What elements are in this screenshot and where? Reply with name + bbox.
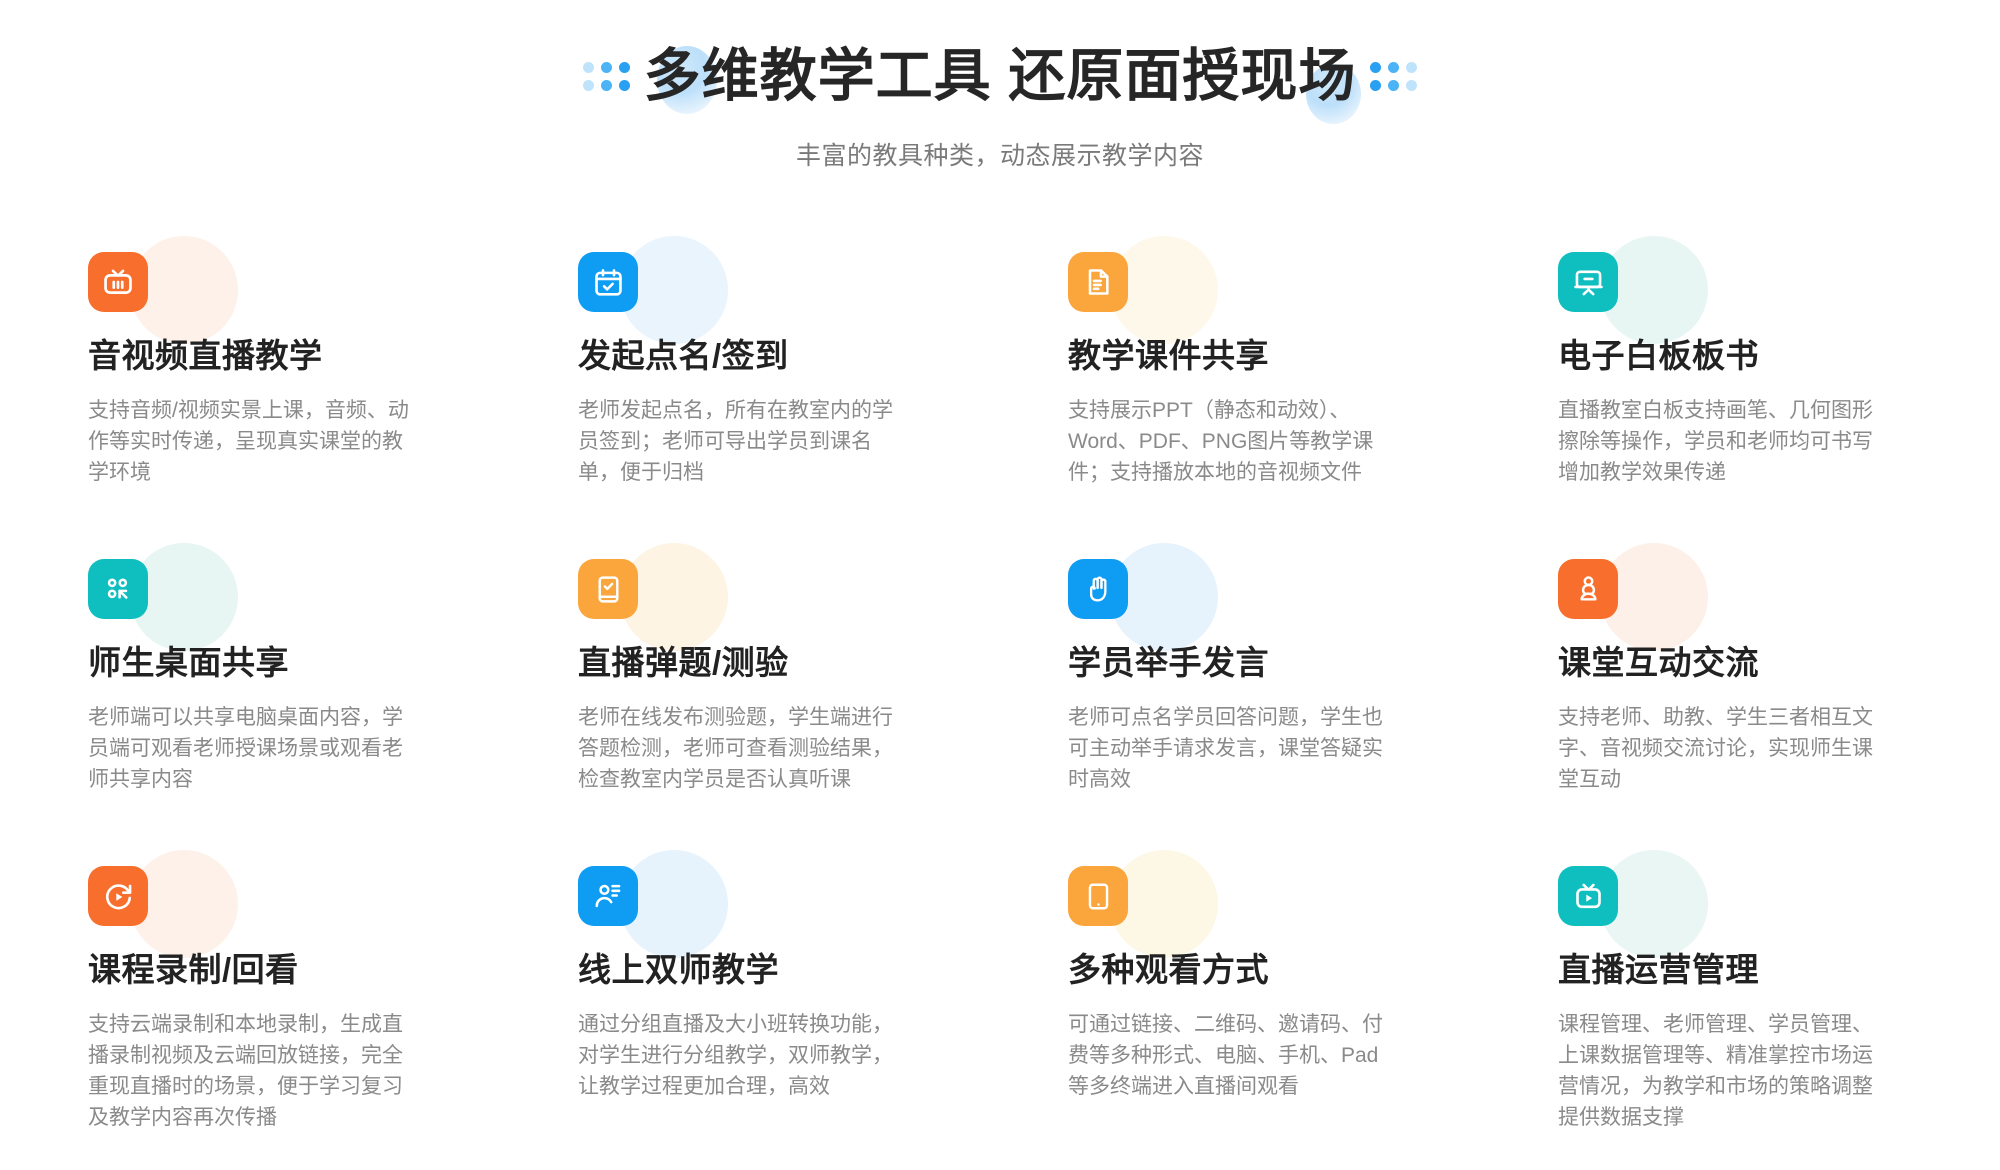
- feature-title: 电子白板板书: [1558, 334, 1988, 378]
- calendar-check-icon: [578, 252, 638, 312]
- feature-desc: 支持云端录制和本地录制，生成直 播录制视频及云端回放链接，完全 重现直播时的场景…: [88, 1009, 498, 1133]
- feature-desc: 支持展示PPT（静态和动效）、 Word、PDF、PNG图片等教学课 件；支持播…: [1068, 395, 1478, 488]
- feature-card[interactable]: 教学课件共享 支持展示PPT（静态和动效）、 Word、PDF、PNG图片等教学…: [1068, 252, 1498, 507]
- page-header: 多维教学工具 还原面授现场 丰富的教具种类，动态展示教学内容: [0, 0, 2000, 174]
- feature-card[interactable]: 直播运营管理 课程管理、老师管理、学员管理、 上课数据管理等、精准掌控市场运 营…: [1558, 866, 1988, 1133]
- dual-teacher-icon: [578, 866, 638, 926]
- feature-card[interactable]: 电子白板板书 直播教室白板支持画笔、几何图形 擦除等操作，学员和老师均可书写 增…: [1558, 252, 1988, 507]
- feature-title: 课堂互动交流: [1558, 641, 1988, 685]
- feature-title: 学员举手发言: [1068, 641, 1498, 685]
- page-title: 多维教学工具 还原面授现场: [644, 38, 1357, 114]
- feature-grid: 音视频直播教学 支持音频/视频实景上课，音频、动 作等实时传递，呈现真实课堂的教…: [88, 252, 1918, 1133]
- feature-desc: 老师可点名学员回答问题，学生也 可主动举手请求发言，课堂答疑实 时高效: [1068, 702, 1478, 795]
- feature-desc: 可通过链接、二维码、邀请码、付 费等多种形式、电脑、手机、Pad 等多终端进入直…: [1068, 1009, 1478, 1102]
- feature-card[interactable]: 师生桌面共享 老师端可以共享电脑桌面内容，学 员端可观看老师授课场景或观看老 师…: [88, 559, 518, 814]
- feature-card[interactable]: 直播弹题/测验 老师在线发布测验题，学生端进行 答题检测，老师可查看测验结果， …: [578, 559, 1008, 814]
- feature-title: 教学课件共享: [1068, 334, 1498, 378]
- tv-live-icon: [88, 252, 148, 312]
- mobile-phone-icon: [1068, 866, 1128, 926]
- feature-desc: 直播教室白板支持画笔、几何图形 擦除等操作，学员和老师均可书写 增加教学效果传递: [1558, 395, 1968, 488]
- feature-title: 课程录制/回看: [88, 948, 518, 992]
- dots-left-decoration-icon: [583, 62, 630, 91]
- feature-card[interactable]: 学员举手发言 老师可点名学员回答问题，学生也 可主动举手请求发言，课堂答疑实 时…: [1068, 559, 1498, 814]
- document-courseware-icon: [1068, 252, 1128, 312]
- raise-hand-icon: [1068, 559, 1128, 619]
- feature-title: 直播运营管理: [1558, 948, 1988, 992]
- page-subtitle: 丰富的教具种类，动态展示教学内容: [0, 138, 2000, 174]
- screen-share-icon: [88, 559, 148, 619]
- feature-title: 线上双师教学: [578, 948, 1008, 992]
- feature-card[interactable]: 线上双师教学 通过分组直播及大小班转换功能， 对学生进行分组教学，双师教学， 让…: [578, 866, 1008, 1133]
- feature-title: 师生桌面共享: [88, 641, 518, 685]
- live-manage-icon: [1558, 866, 1618, 926]
- feature-desc: 老师端可以共享电脑桌面内容，学 员端可观看老师授课场景或观看老 师共享内容: [88, 702, 498, 795]
- feature-card[interactable]: 多种观看方式 可通过链接、二维码、邀请码、付 费等多种形式、电脑、手机、Pad …: [1068, 866, 1498, 1133]
- replay-record-icon: [88, 866, 148, 926]
- group-users-icon: [1558, 559, 1618, 619]
- feature-desc: 老师发起点名，所有在教室内的学 员签到；老师可导出学员到课名 单，便于归档: [578, 395, 988, 488]
- feature-desc: 支持老师、助教、学生三者相互文 字、音视频交流讨论，实现师生课 堂互动: [1558, 702, 1968, 795]
- title-row: 多维教学工具 还原面授现场: [583, 38, 1418, 114]
- feature-title: 音视频直播教学: [88, 334, 518, 378]
- feature-card[interactable]: 课程录制/回看 支持云端录制和本地录制，生成直 播录制视频及云端回放链接，完全 …: [88, 866, 518, 1133]
- feature-title: 直播弹题/测验: [578, 641, 1008, 685]
- dots-right-decoration-icon: [1370, 62, 1417, 91]
- feature-card[interactable]: 课堂互动交流 支持老师、助教、学生三者相互文 字、音视频交流讨论，实现师生课 堂…: [1558, 559, 1988, 814]
- feature-card[interactable]: 音视频直播教学 支持音频/视频实景上课，音频、动 作等实时传递，呈现真实课堂的教…: [88, 252, 518, 507]
- feature-desc: 课程管理、老师管理、学员管理、 上课数据管理等、精准掌控市场运 营情况，为教学和…: [1558, 1009, 1968, 1133]
- quiz-tablet-icon: [578, 559, 638, 619]
- feature-desc: 支持音频/视频实景上课，音频、动 作等实时传递，呈现真实课堂的教 学环境: [88, 395, 498, 488]
- feature-desc: 通过分组直播及大小班转换功能， 对学生进行分组教学，双师教学， 让教学过程更加合…: [578, 1009, 988, 1102]
- feature-title: 多种观看方式: [1068, 948, 1498, 992]
- whiteboard-icon: [1558, 252, 1618, 312]
- features-page: 多维教学工具 还原面授现场 丰富的教具种类，动态展示教学内容 音视频直播教学 支…: [0, 0, 2000, 1170]
- feature-title: 发起点名/签到: [578, 334, 1008, 378]
- feature-card[interactable]: 发起点名/签到 老师发起点名，所有在教室内的学 员签到；老师可导出学员到课名 单…: [578, 252, 1008, 507]
- feature-desc: 老师在线发布测验题，学生端进行 答题检测，老师可查看测验结果， 检查教室内学员是…: [578, 702, 988, 795]
